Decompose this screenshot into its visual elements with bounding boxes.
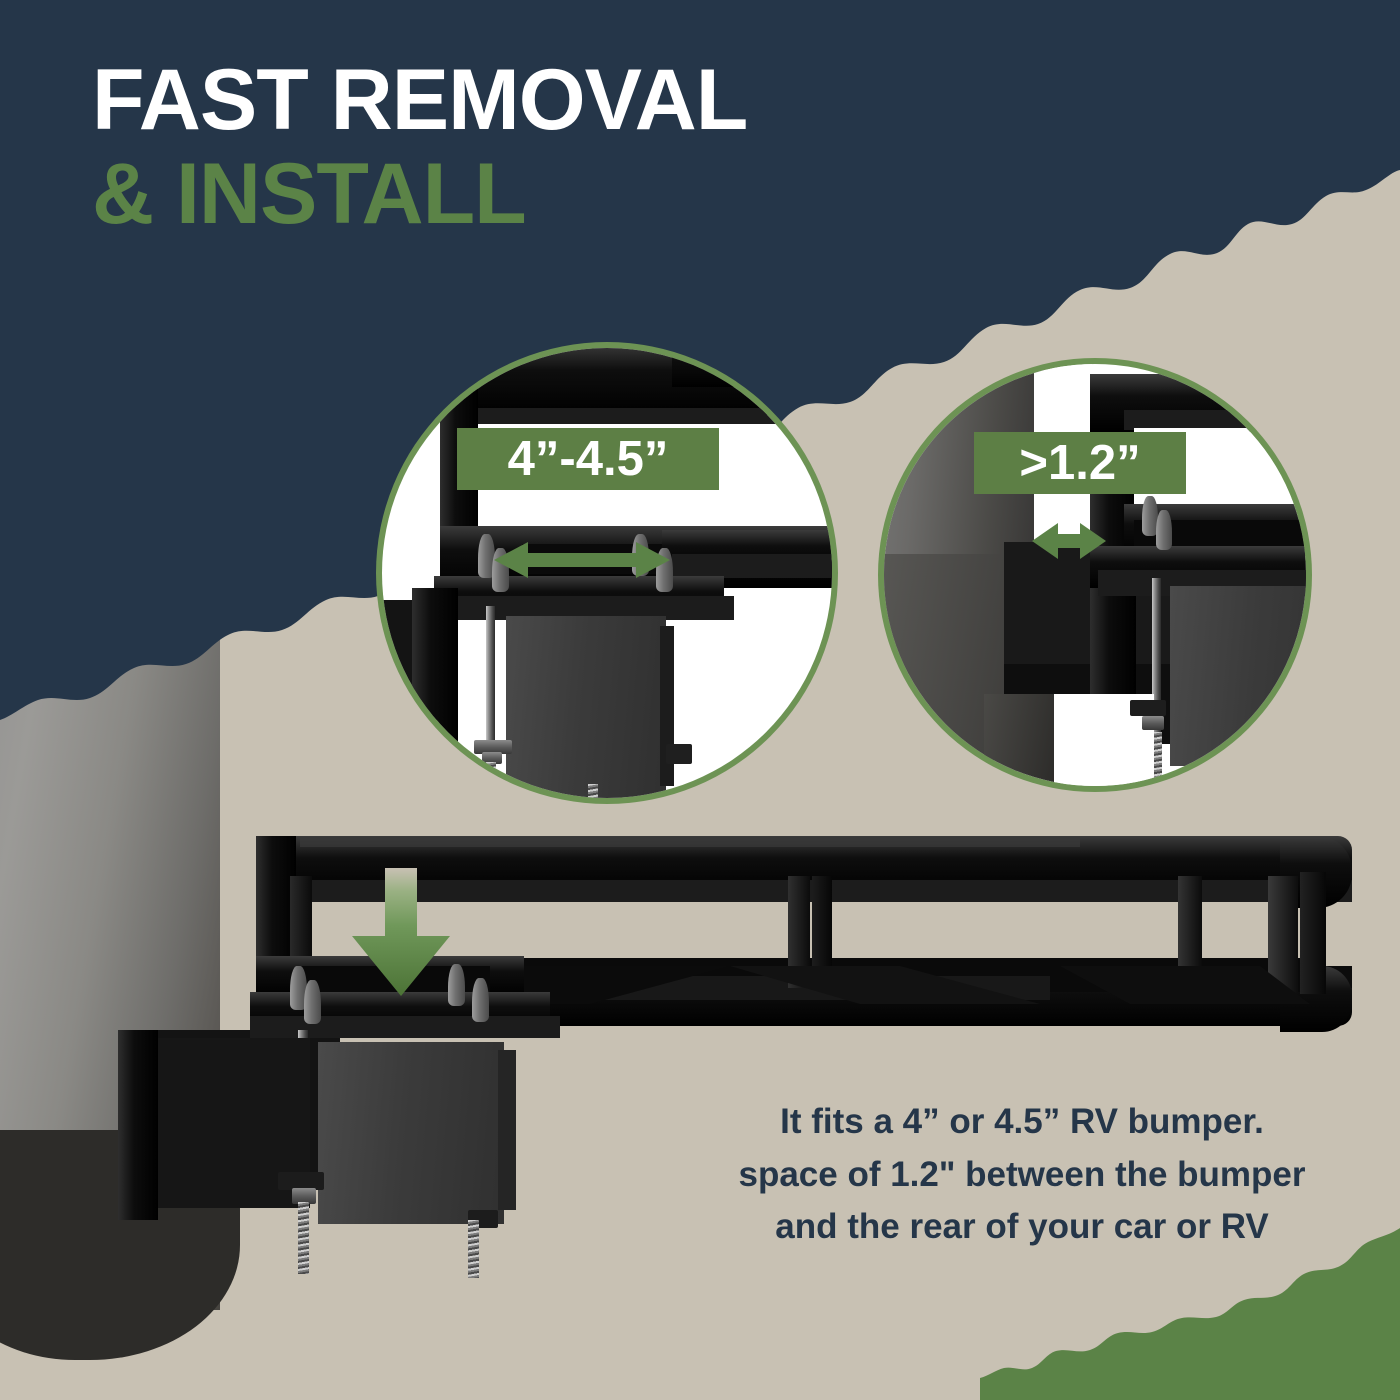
callout-circle-bumper-width: 4”-4.5”	[382, 348, 832, 798]
callout-1-photo: 4”-4.5”	[382, 348, 832, 798]
install-down-arrow-icon	[352, 868, 450, 996]
badge-bumper-width: 4”-4.5”	[457, 428, 719, 490]
bottom-description-text: It fits a 4” or 4.5” RV bumper. space of…	[686, 1096, 1358, 1254]
badge-bumper-clearance: >1.2”	[974, 432, 1186, 494]
headline-block: FAST REMOVAL & INSTALL	[92, 58, 747, 239]
headline-line-2: & INSTALL	[92, 151, 747, 239]
callout-circle-bumper-clearance: >1.2”	[884, 364, 1306, 786]
double-horizontal-arrow-icon	[494, 540, 670, 580]
headline-line-1: FAST REMOVAL	[92, 58, 747, 143]
bottom-text-line-2: space of 1.2" between the bumper	[686, 1149, 1358, 1202]
product-cargo-carrier-image	[0, 780, 1400, 1400]
bottom-text-line-1: It fits a 4” or 4.5” RV bumper.	[686, 1096, 1358, 1149]
bottom-text-line-3: and the rear of your car or RV	[686, 1201, 1358, 1254]
callout-2-photo: >1.2”	[884, 364, 1306, 786]
double-horizontal-arrow-icon	[1032, 522, 1106, 560]
infographic-canvas: FAST REMOVAL & INSTALL	[0, 0, 1400, 1400]
